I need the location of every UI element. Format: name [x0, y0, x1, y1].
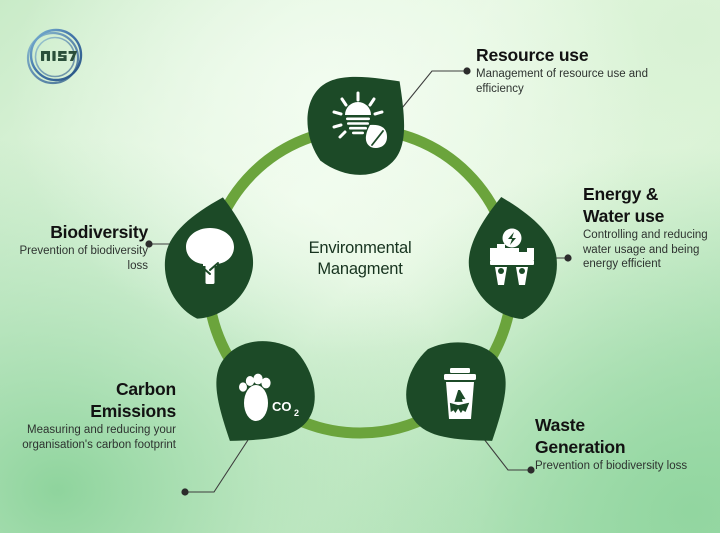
dot-waste [527, 466, 534, 473]
connector-resource [398, 71, 466, 113]
svg-text:2: 2 [294, 408, 299, 418]
label-waste-generation-desc: Prevention of biodiversity loss [535, 459, 715, 474]
label-energy-water-use-title-1: Energy & [583, 184, 718, 204]
label-carbon-emissions-title-2: Emissions [16, 401, 176, 421]
node-resource-use [284, 45, 437, 198]
label-resource-use-title: Resource use [476, 45, 676, 65]
dot-carbon [181, 488, 188, 495]
infographic-canvas: CO 2 Environmental Managment Resource us… [0, 0, 720, 533]
label-energy-water-use[interactable]: Energy & Water use Controlling and reduc… [583, 184, 718, 272]
label-energy-water-use-desc: Controlling and reducing water usage and… [583, 228, 718, 272]
center-title-line-2: Managment [272, 259, 448, 280]
label-resource-use[interactable]: Resource use Management of resource use … [476, 45, 676, 96]
node-carbon-emissions: CO 2 [187, 319, 336, 470]
node-biodiversity [154, 188, 266, 328]
node-waste-generation [385, 319, 534, 470]
label-resource-use-desc: Management of resource use and efficienc… [476, 67, 676, 96]
connector-carbon [186, 440, 248, 492]
label-carbon-emissions-desc: Measuring and reducing your organisation… [16, 423, 176, 452]
dot-resource [463, 67, 470, 74]
label-waste-generation-title-2: Generation [535, 437, 715, 457]
label-waste-generation-title-1: Waste [535, 415, 715, 435]
leaf-shape-resource [284, 45, 437, 198]
label-energy-water-use-title-2: Water use [583, 206, 718, 226]
label-carbon-emissions[interactable]: Carbon Emissions Measuring and reducing … [16, 379, 176, 452]
dot-energy [564, 254, 571, 261]
diagram-center-title: Environmental Managment [272, 238, 448, 280]
label-carbon-emissions-title-1: Carbon [16, 379, 176, 399]
label-biodiversity-desc: Prevention of biodiversity loss [8, 244, 148, 273]
center-title-line-1: Environmental [272, 238, 448, 259]
label-biodiversity-title: Biodiversity [8, 222, 148, 242]
node-energy-water [458, 189, 566, 326]
recycle-bin-icon [444, 368, 476, 419]
label-biodiversity[interactable]: Biodiversity Prevention of biodiversity … [8, 222, 148, 273]
svg-text:CO: CO [272, 399, 292, 414]
label-waste-generation[interactable]: Waste Generation Prevention of biodivers… [535, 415, 715, 474]
